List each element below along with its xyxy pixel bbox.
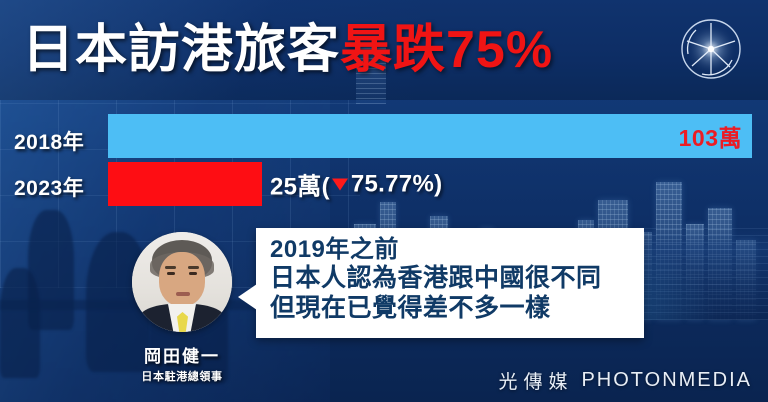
brand-name-cn: 光傳媒 (498, 367, 573, 394)
speaker-caption: 岡田健一 日本駐港總領事 (108, 342, 256, 384)
speaker-title: 日本駐港總領事 (108, 368, 256, 384)
triangle-down-icon (332, 178, 348, 190)
footer-brand: 光傳媒 PHOTONMEDIA (498, 367, 752, 394)
speaker-block: 岡田健一 日本駐港總領事 (132, 232, 232, 332)
page-title: 日本訪港旅客 暴跌75% (22, 14, 553, 86)
photonmedia-logo (672, 10, 750, 88)
bar-2018: 103萬 (108, 114, 752, 158)
headline-primary: 日本訪港旅客 (22, 24, 340, 76)
chart-row-label-2018: 2018年 (14, 126, 102, 156)
bar-value-2018: 103萬 (679, 119, 742, 153)
avatar (132, 232, 232, 332)
quote-line-1: 2019年之前 (270, 236, 644, 264)
bar-value-2023: 25萬( 75.77%) (270, 167, 442, 202)
infographic-stage: 日本訪港旅客 暴跌75% (0, 0, 768, 402)
bar-chart: 2018年 2023年 103萬 25萬( 75.77%) (0, 110, 768, 210)
quote-line-3: 但現在已覺得差不多一樣 (270, 294, 644, 324)
bar-value-2023-prefix: 25萬( (270, 167, 330, 202)
quote-line-2: 日本人認為香港跟中國很不同 (270, 264, 644, 294)
headline-highlight: 暴跌75% (340, 24, 553, 76)
bubble-tail (238, 284, 257, 310)
chart-row-label-2023: 2023年 (14, 172, 102, 202)
bar-2023 (108, 162, 262, 206)
quote-bubble: 2019年之前 日本人認為香港跟中國很不同 但現在已覺得差不多一樣 (256, 228, 644, 338)
speaker-name: 岡田健一 (108, 342, 256, 367)
traveler-silhouette (0, 268, 40, 378)
bar-value-2023-suffix: 75.77%) (351, 170, 443, 198)
brand-name-en: PHOTONMEDIA (581, 369, 752, 392)
